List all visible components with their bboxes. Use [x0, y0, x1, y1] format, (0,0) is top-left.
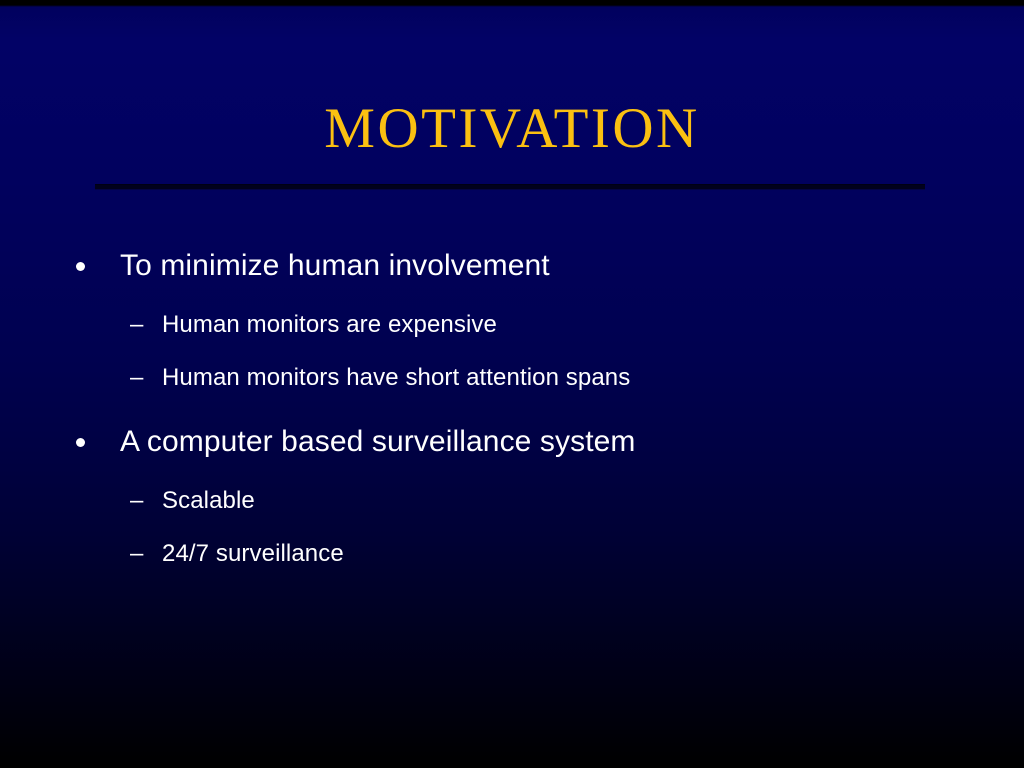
sub-bullet-dash-icon: –	[130, 484, 152, 518]
spacer	[0, 476, 1024, 484]
sub-bullet-label: Human monitors are expensive	[162, 308, 1024, 342]
sub-bullet-dash-icon: –	[130, 537, 152, 571]
sub-bullet-dash-icon: –	[130, 308, 152, 342]
bullet-item-level1: To minimize human involvement	[0, 246, 1024, 286]
bullet-item-level1: A computer based surveillance system	[0, 422, 1024, 462]
slide-title-block: MOTIVATION	[0, 98, 1024, 160]
slide-title: MOTIVATION	[324, 98, 699, 160]
bullet-label: A computer based surveillance system	[120, 422, 1024, 462]
bullet-item-level2: – 24/7 surveillance	[0, 537, 1024, 571]
spacer	[0, 300, 1024, 308]
bullet-item-level2: – Scalable	[0, 484, 1024, 518]
bullet-item-level2: – Human monitors are expensive	[0, 308, 1024, 342]
spacer	[0, 353, 1024, 361]
sub-bullet-label: Human monitors have short attention span…	[162, 361, 1024, 395]
spacer	[0, 406, 1024, 422]
spacer	[0, 529, 1024, 537]
title-divider-rule	[95, 184, 925, 190]
sub-bullet-label: Scalable	[162, 484, 1024, 518]
bullet-dot-icon	[76, 438, 85, 447]
presentation-slide: MOTIVATION To minimize human involvement…	[0, 0, 1024, 768]
bullet-label: To minimize human involvement	[120, 246, 1024, 286]
sub-bullet-label: 24/7 surveillance	[162, 537, 1024, 571]
slide-body: To minimize human involvement – Human mo…	[0, 246, 1024, 582]
sub-bullet-dash-icon: –	[130, 361, 152, 395]
bullet-item-level2: – Human monitors have short attention sp…	[0, 361, 1024, 395]
bullet-dot-icon	[76, 262, 85, 271]
